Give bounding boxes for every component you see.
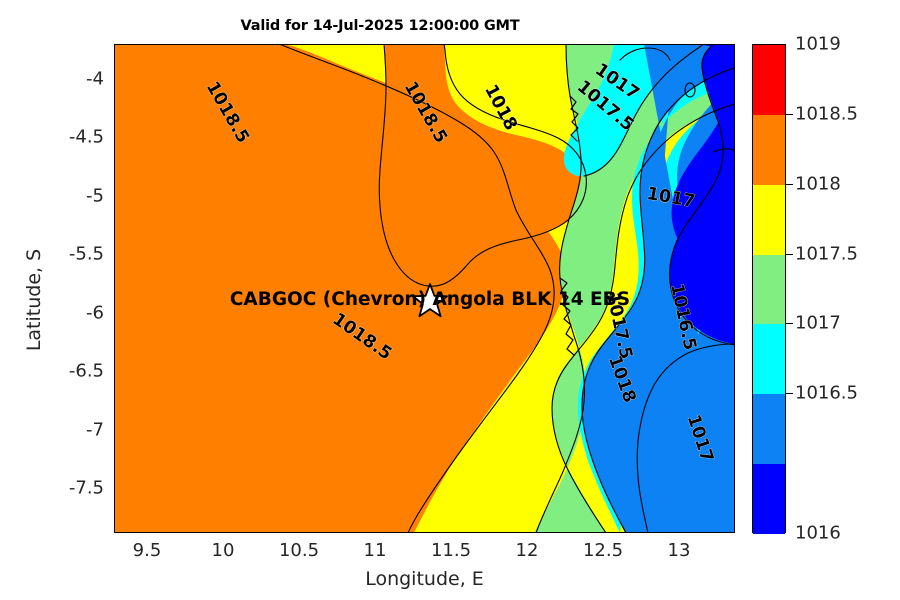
x-tick: 13: [668, 540, 691, 561]
station-label: CABGOC (Chevron) Angola BLK 14 EBS: [230, 289, 630, 310]
x-tick: 11.5: [431, 540, 471, 561]
contour-field: 1018.5 1018.5 1018 1017.5 1017 1017 1018…: [114, 44, 735, 533]
colorbar-band-1016-1016p5: [753, 394, 785, 464]
y-tick: -4.5: [18, 127, 104, 148]
y-axis-label: Latitude, S: [23, 170, 45, 430]
y-tick: -7.5: [18, 478, 104, 499]
colorbar-band-below-1016: [753, 464, 785, 534]
x-tick: 12.5: [583, 540, 623, 561]
colorbar-band-1018-1018p5: [753, 115, 785, 185]
y-tick: -4: [18, 69, 104, 90]
x-tick: 10: [212, 540, 235, 561]
plot-area: 1018.5 1018.5 1018 1017.5 1017 1017 1018…: [114, 44, 735, 533]
x-tick: 11: [364, 540, 387, 561]
colorbar-band-1018p5-1019: [753, 45, 785, 115]
colorbar[interactable]: [752, 44, 786, 533]
colorbar-band-1017-1017p5: [753, 255, 785, 325]
colorbar-label-wrap: Surface Pressure, mb: [830, 0, 900, 600]
figure-title: Valid for 14-Jul-2025 12:00:00 GMT: [0, 18, 760, 34]
x-tick: 12: [516, 540, 539, 561]
pressure-map-figure: Valid for 14-Jul-2025 12:00:00 GMT: [0, 0, 900, 600]
colorbar-band-1016p5-1017: [753, 324, 785, 394]
x-axis-label: Longitude, E: [114, 568, 735, 590]
colorbar-band-1017p5-1018: [753, 185, 785, 255]
x-tick: 9.5: [133, 540, 162, 561]
x-tick: 10.5: [279, 540, 319, 561]
y-tick-group: -4 -4.5 -5 -5.5 -6 -6.5 -7 -7.5: [0, 0, 104, 600]
